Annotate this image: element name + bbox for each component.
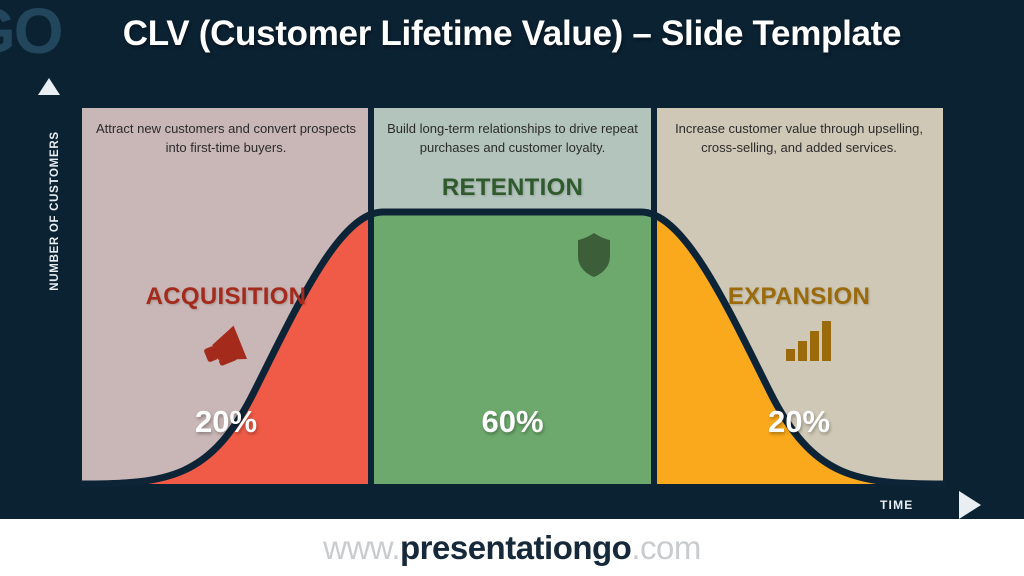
triangle-up-icon <box>38 78 60 95</box>
triangle-right-icon <box>959 491 981 519</box>
footer-url-prefix: www. <box>323 529 400 566</box>
footer-url-brand: presentationgo <box>400 529 631 566</box>
shield-icon <box>576 232 612 278</box>
megaphone-icon <box>201 325 257 373</box>
percent-expansion: 20% <box>655 404 943 440</box>
stage-title-expansion: EXPANSION <box>655 283 943 311</box>
stage-title-retention: RETENTION <box>372 174 653 202</box>
percent-retention: 60% <box>372 404 653 440</box>
footer-watermark: www.presentationgo.com <box>0 519 1024 576</box>
stage-title-acquisition: ACQUISITION <box>82 283 370 311</box>
slide-canvas: GO CLV (Customer Lifetime Value) – Slide… <box>0 0 1024 576</box>
footer-url-suffix: .com <box>631 529 701 566</box>
footer-url: www.presentationgo.com <box>323 529 701 567</box>
percent-acquisition: 20% <box>82 404 370 440</box>
x-axis-label: TIME <box>880 498 913 512</box>
y-axis-label: NUMBER OF CUSTOMERS <box>49 96 61 326</box>
page-title: CLV (Customer Lifetime Value) – Slide Te… <box>0 14 1024 54</box>
clv-chart: Attract new customers and convert prospe… <box>82 108 943 484</box>
bar-chart-icon <box>785 320 833 362</box>
